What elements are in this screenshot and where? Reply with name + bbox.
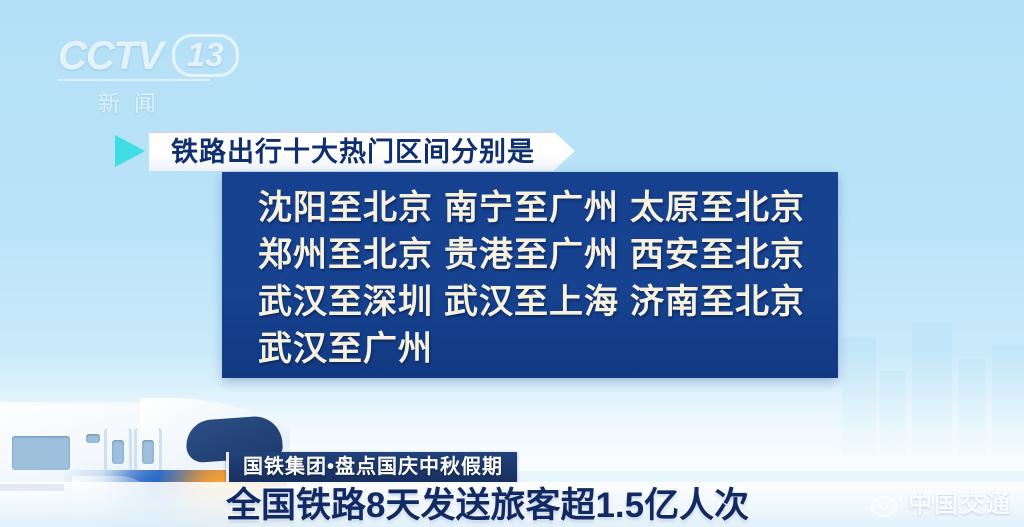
sub-banner-text: 国铁集团•盘点国庆中秋假期 — [243, 457, 503, 477]
route-item: 济南至北京 — [630, 285, 816, 319]
route-row: 武汉至广州 — [258, 325, 838, 372]
train-window — [86, 434, 100, 443]
channel-number: 13 — [172, 34, 239, 77]
banner-title: 铁路出行十大热门区间分别是 — [171, 139, 535, 166]
train-window — [12, 436, 70, 470]
headline-text: 全国铁路8天发送旅客超1.5亿人次 — [226, 484, 749, 526]
broadcast-frame: CCTV 13 新闻 铁路出行十大热门区间分别是 沈阳至北京 南宁至广州 太原至… — [0, 0, 1024, 527]
route-item: 武汉至深圳 — [258, 285, 444, 319]
route-item: 西安至北京 — [630, 238, 816, 272]
route-item: 贵港至广州 — [444, 238, 630, 272]
cctv-wordmark: CCTV — [58, 36, 163, 76]
route-item: 南宁至广州 — [444, 191, 630, 225]
route-item: 沈阳至北京 — [258, 191, 444, 225]
route-item: 太原至北京 — [630, 191, 816, 225]
play-triangle-icon — [113, 131, 149, 171]
header-banner: 铁路出行十大热门区间分别是 — [113, 131, 575, 171]
banner-plate: 铁路出行十大热门区间分别是 — [149, 131, 575, 171]
logo-row: CCTV 13 — [58, 34, 238, 77]
channel-subtitle: 新闻 — [58, 86, 210, 118]
route-row: 武汉至深圳 武汉至上海 济南至北京 — [258, 278, 838, 325]
logo-underline — [58, 79, 210, 81]
route-row: 沈阳至北京 南宁至广州 太原至北京 — [258, 184, 838, 231]
route-row: 郑州至北京 贵港至广州 西安至北京 — [258, 231, 838, 278]
route-item: 武汉至广州 — [258, 332, 444, 366]
route-item: 武汉至上海 — [444, 285, 630, 319]
routes-panel: 沈阳至北京 南宁至广州 太原至北京 郑州至北京 贵港至广州 西安至北京 武汉至深… — [222, 172, 838, 378]
cctv13-channel-logo: CCTV 13 新闻 — [58, 34, 238, 116]
sub-banner: 国铁集团•盘点国庆中秋假期 — [226, 452, 517, 482]
route-item: 郑州至北京 — [258, 238, 444, 272]
